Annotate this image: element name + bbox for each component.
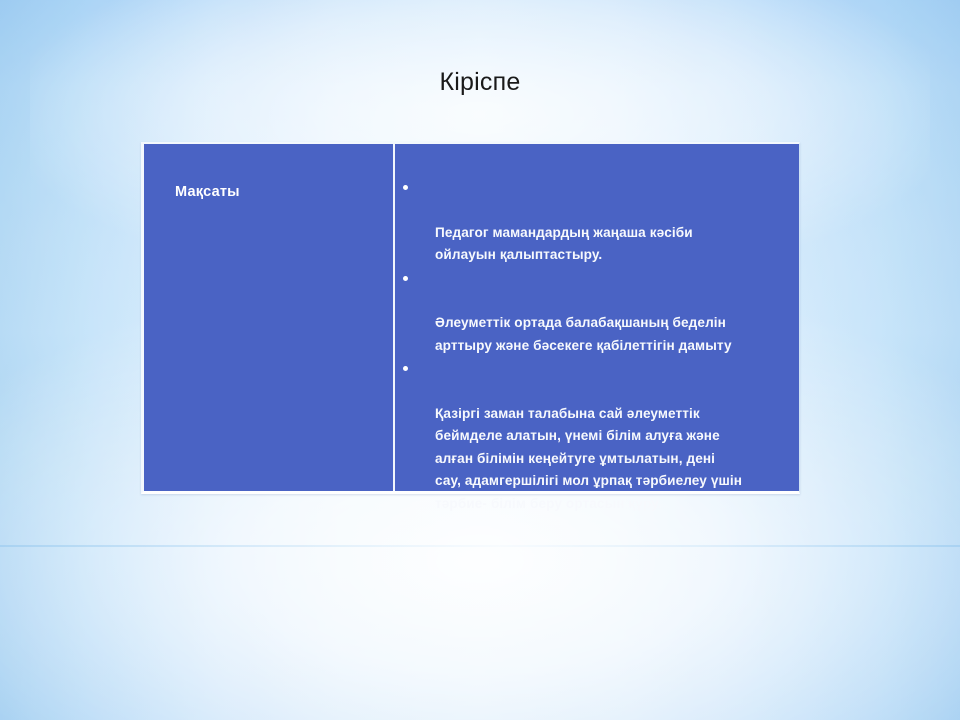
list-item-text: Әлеуметтік ортада балабақшаның беделін а…	[435, 315, 732, 352]
content-table: Мақсаты Педагог мамандардың жаңаша кәсіб…	[141, 142, 800, 494]
list-item-text: Педагог мамандардың жаңаша кәсіби ойлауы…	[435, 225, 693, 262]
table-row-label: Мақсаты	[175, 182, 393, 202]
list-item: Педагог мамандардың жаңаша кәсіби ойлауы…	[398, 177, 793, 267]
bullet-dot-icon	[403, 366, 408, 371]
list-item-text: Қазіргі заман талабына сай әлеуметтік бе…	[435, 406, 742, 511]
table-cell-label: Мақсаты	[144, 144, 393, 491]
bullet-dot-icon	[403, 185, 408, 190]
bullet-dot-icon	[403, 276, 408, 281]
slide-canvas: Кіріспе Мақсаты Педагог мамандардың жаңа…	[0, 0, 960, 720]
list-item: Әлеуметтік ортада балабақшаның беделін а…	[398, 268, 793, 358]
list-item: Қазіргі заман талабына сай әлеуметтік бе…	[398, 358, 793, 515]
bullet-list: Педагог мамандардың жаңаша кәсіби ойлауы…	[398, 177, 793, 515]
page-title: Кіріспе	[0, 66, 960, 98]
table-cell-content: Педагог мамандардың жаңаша кәсіби ойлауы…	[395, 144, 799, 491]
